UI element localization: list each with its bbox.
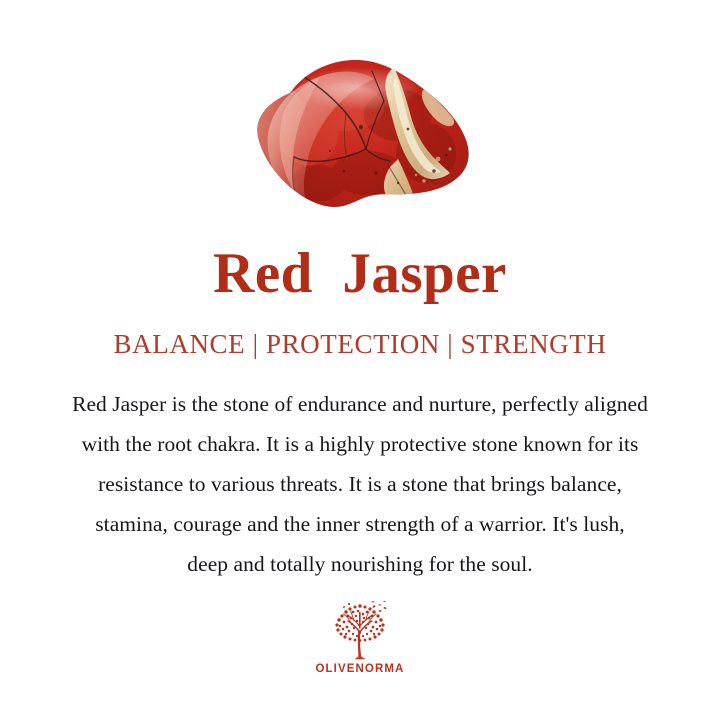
keywords-subtitle: BALANCE | PROTECTION | STRENGTH [114, 331, 607, 358]
page-title: Red Jasper [213, 245, 507, 302]
red-jasper-stone-image [248, 55, 476, 223]
description-line: Red Jasper is the stone of endurance and… [10, 384, 710, 424]
description-line: resistance to various threats. It is a s… [10, 464, 710, 504]
brand-logo: OLIVENORMA [316, 600, 405, 676]
stone-illustration [248, 55, 476, 223]
red-jasper-info-card: Red Jasper BALANCE | PROTECTION | STRENG… [0, 0, 720, 720]
stone-image-area [0, 0, 720, 245]
tree-of-life-icon [327, 600, 393, 662]
description-line: with the root chakra. It is a highly pro… [10, 424, 710, 464]
description-line: deep and totally nourishing for the soul… [10, 544, 710, 584]
brand-wordmark: OLIVENORMA [316, 664, 405, 676]
description-line: stamina, courage and the inner strength … [10, 504, 710, 544]
description-paragraph: Red Jasper is the stone of endurance and… [10, 384, 710, 584]
